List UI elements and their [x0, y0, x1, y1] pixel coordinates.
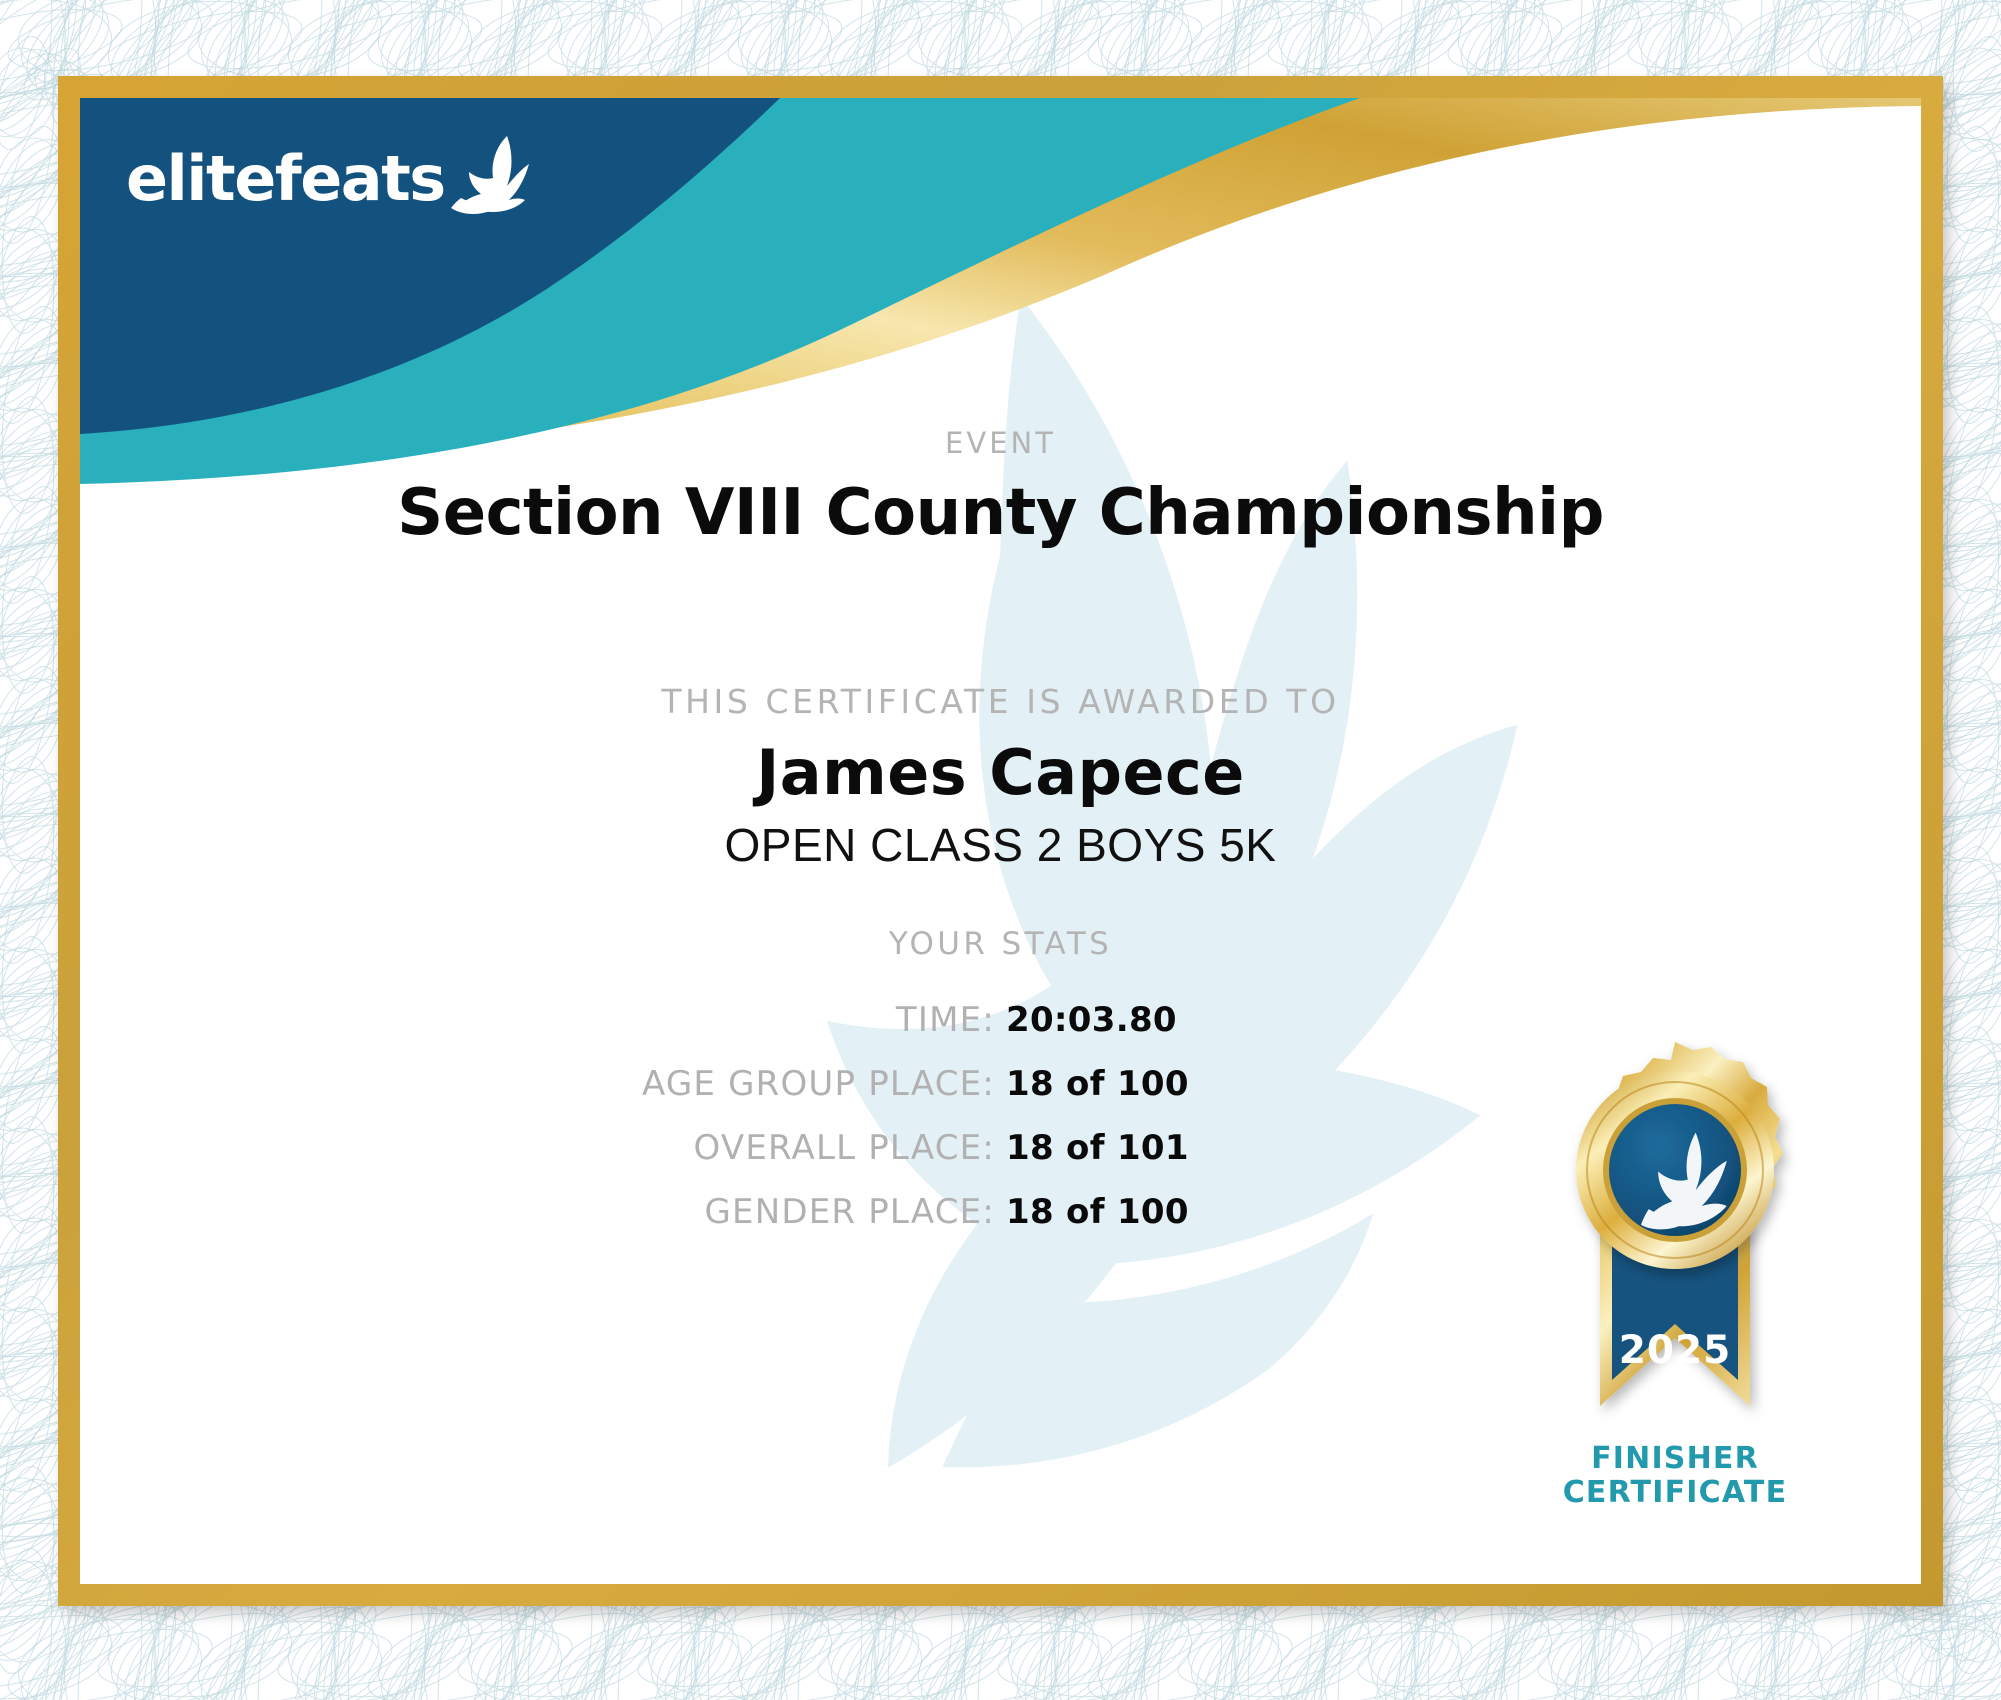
stat-label-age-group-place: AGE GROUP PLACE: [485, 1064, 1006, 1104]
event-title: Section VIII County Championship [80, 476, 1921, 550]
recipient-name: James Capece [80, 736, 1921, 809]
badge-caption-line2: CERTIFICATE [1510, 1476, 1840, 1510]
medal-icon: 2025 [1530, 1038, 1820, 1438]
badge-caption: FINISHER CERTIFICATE [1510, 1442, 1840, 1509]
badge-year-text: 2025 [1619, 1328, 1732, 1373]
event-label: EVENT [80, 426, 1921, 460]
certificate-inner-body: elitefeats EVENT Section VIII County Cha… [80, 98, 1921, 1584]
stat-value-gender-place: 18 of 100 [1006, 1192, 1516, 1232]
your-stats-label: YOUR STATS [80, 926, 1921, 962]
recipient-division: OPEN CLASS 2 BOYS 5K [80, 818, 1921, 872]
certificate-content: EVENT Section VIII County Championship T… [80, 98, 1921, 1584]
awarded-to-label: THIS CERTIFICATE IS AWARDED TO [80, 682, 1921, 721]
gold-border-frame: elitefeats EVENT Section VIII County Cha… [58, 76, 1943, 1606]
certificate-page: elitefeats EVENT Section VIII County Cha… [0, 0, 2001, 1700]
stat-label-overall-place: OVERALL PLACE: [485, 1128, 1006, 1168]
stat-value-overall-place: 18 of 101 [1006, 1128, 1516, 1168]
stat-label-gender-place: GENDER PLACE: [485, 1192, 1006, 1232]
finisher-medal-badge: 2025 FINISHER CERTIFICATE [1510, 1038, 1840, 1509]
badge-caption-line1: FINISHER [1510, 1442, 1840, 1476]
stat-value-time: 20:03.80 [1006, 1000, 1516, 1040]
stat-value-age-group-place: 18 of 100 [1006, 1064, 1516, 1104]
stat-label-time: TIME: [485, 1000, 1006, 1040]
